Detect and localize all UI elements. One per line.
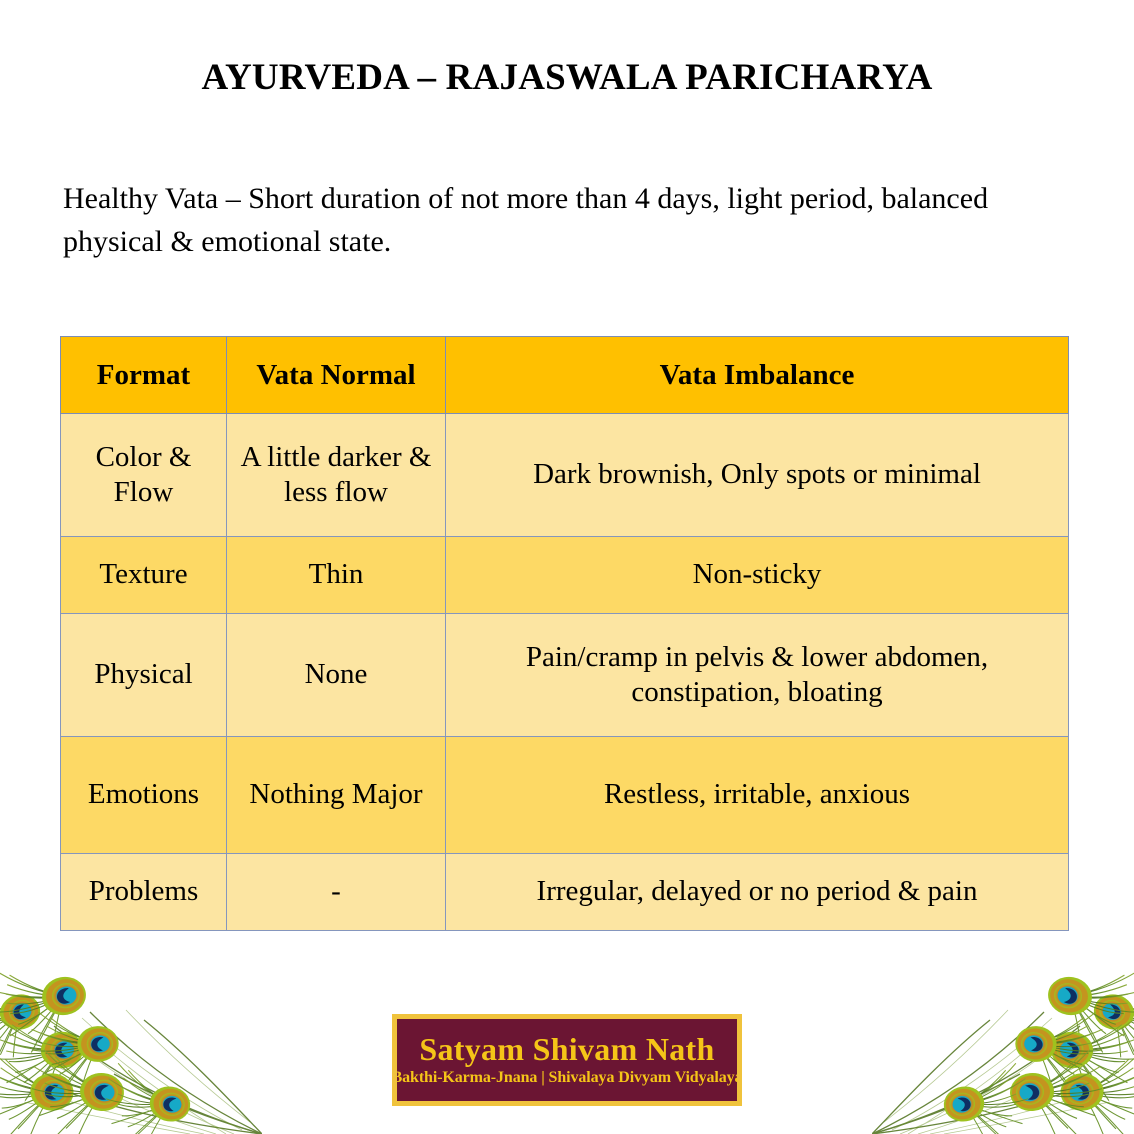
table-row: Texture Thin Non-sticky — [61, 537, 1069, 614]
cell-imbalance: Pain/cramp in pelvis & lower abdomen, co… — [446, 614, 1069, 737]
cell-normal: Thin — [227, 537, 446, 614]
cell-normal: - — [227, 854, 446, 931]
peacock-feathers-icon — [872, 934, 1134, 1134]
brand-logo: Satyam Shivam Nath Bakthi-Karma-Jnana | … — [392, 1014, 742, 1106]
column-header-vata-normal: Vata Normal — [227, 337, 446, 414]
column-header-format: Format — [61, 337, 227, 414]
table-header-row: Format Vata Normal Vata Imbalance — [61, 337, 1069, 414]
cell-normal: Nothing Major — [227, 737, 446, 854]
brand-tagline: Bakthi-Karma-Jnana | Shivalaya Divyam Vi… — [392, 1069, 742, 1087]
cell-format: Emotions — [61, 737, 227, 854]
vata-comparison-table: Format Vata Normal Vata Imbalance Color … — [60, 336, 1069, 931]
cell-format: Color & Flow — [61, 414, 227, 537]
intro-paragraph: Healthy Vata – Short duration of not mor… — [63, 178, 993, 263]
cell-format: Physical — [61, 614, 227, 737]
brand-name: Satyam Shivam Nath — [419, 1033, 714, 1067]
table-row: Problems - Irregular, delayed or no peri… — [61, 854, 1069, 931]
page-title: AYURVEDA – RAJASWALA PARICHARYA — [0, 56, 1134, 99]
cell-imbalance: Dark brownish, Only spots or minimal — [446, 414, 1069, 537]
cell-imbalance: Irregular, delayed or no period & pain — [446, 854, 1069, 931]
table-row: Emotions Nothing Major Restless, irritab… — [61, 737, 1069, 854]
cell-normal: A little darker & less flow — [227, 414, 446, 537]
cell-imbalance: Restless, irritable, anxious — [446, 737, 1069, 854]
cell-normal: None — [227, 614, 446, 737]
comparison-table-container: Format Vata Normal Vata Imbalance Color … — [60, 336, 1068, 931]
cell-imbalance: Non-sticky — [446, 537, 1069, 614]
peacock-feathers-icon — [0, 934, 262, 1134]
cell-format: Texture — [61, 537, 227, 614]
table-row: Physical None Pain/cramp in pelvis & low… — [61, 614, 1069, 737]
column-header-vata-imbalance: Vata Imbalance — [446, 337, 1069, 414]
table-header: Format Vata Normal Vata Imbalance — [61, 337, 1069, 414]
table-row: Color & Flow A little darker & less flow… — [61, 414, 1069, 537]
table-body: Color & Flow A little darker & less flow… — [61, 414, 1069, 931]
cell-format: Problems — [61, 854, 227, 931]
